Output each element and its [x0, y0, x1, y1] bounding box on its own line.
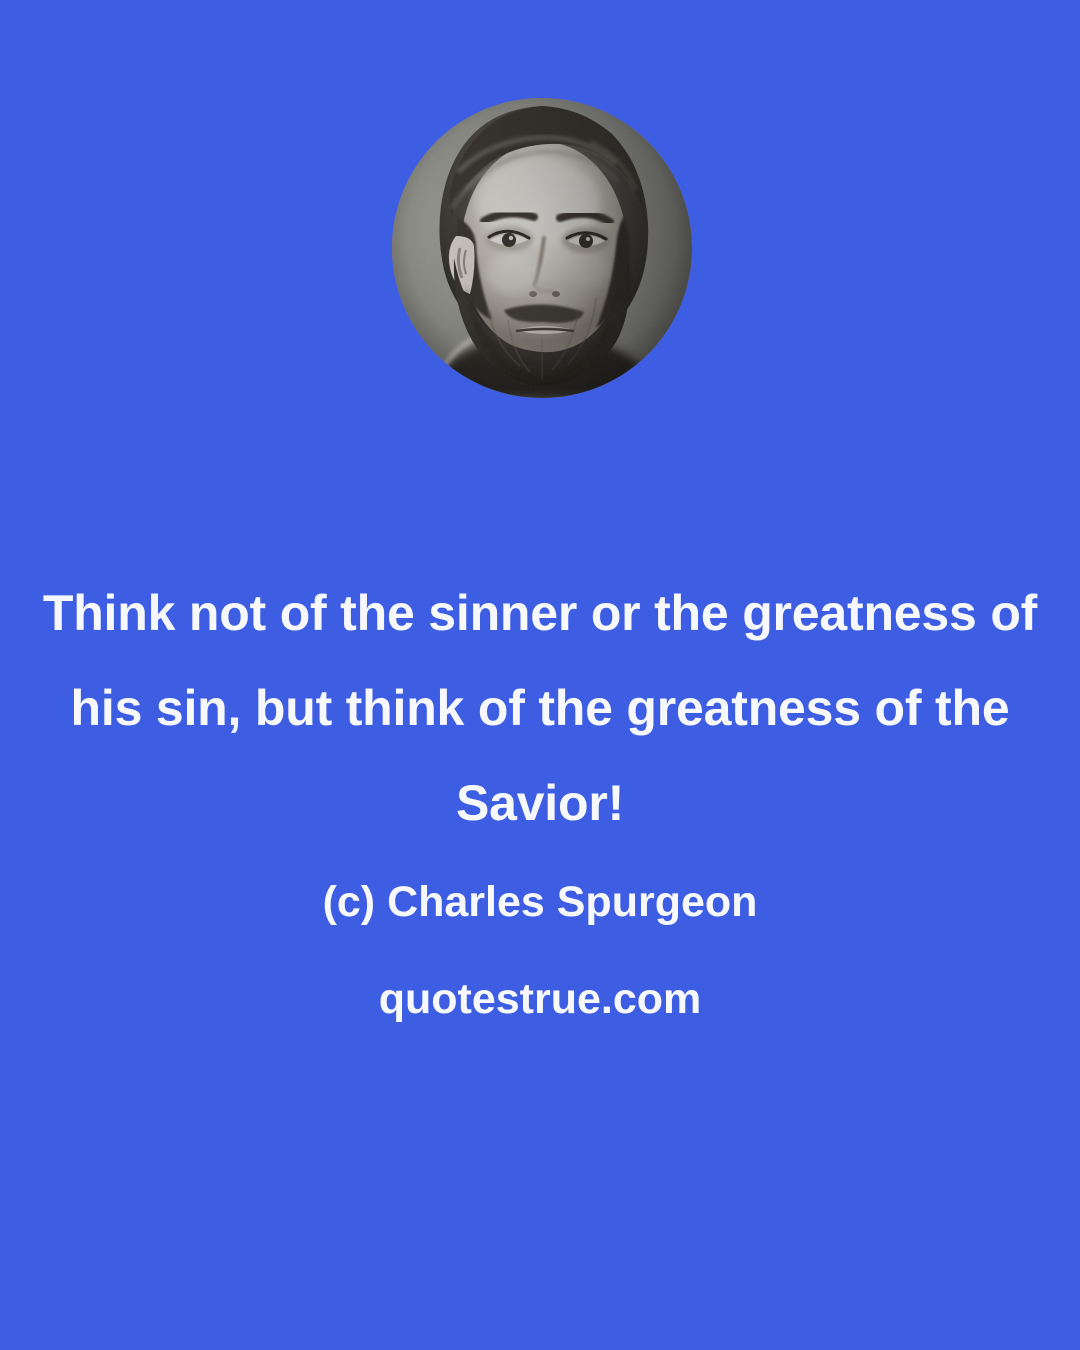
portrait-image — [392, 98, 692, 398]
quote-author: (c) Charles Spurgeon — [0, 876, 1080, 928]
quote-text: Think not of the sinner or the greatness… — [0, 566, 1080, 851]
source-website: quotestrue.com — [0, 973, 1080, 1025]
quote-card: Think not of the sinner or the greatness… — [0, 0, 1080, 1350]
portrait-avatar — [392, 98, 692, 398]
portrait-illustration — [392, 98, 692, 398]
